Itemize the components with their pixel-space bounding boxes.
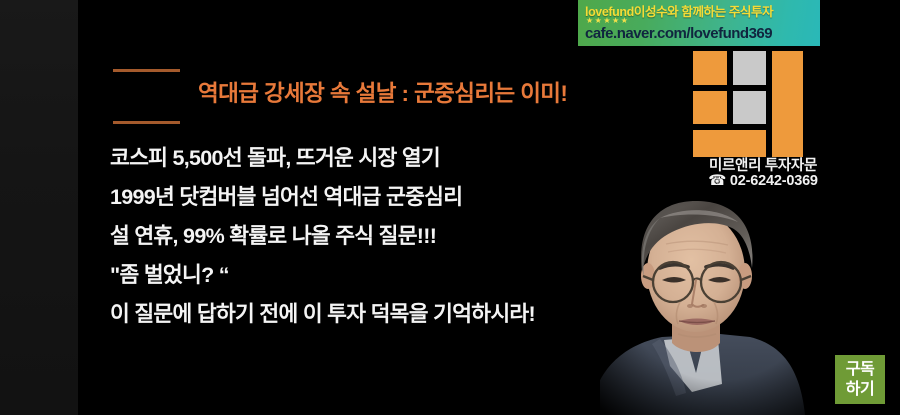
subscribe-button-line2: 하기 xyxy=(846,380,874,400)
logo-cell-bottom-bar xyxy=(693,130,766,157)
subscribe-button-line1: 구독 xyxy=(846,360,874,380)
logo-cell-mid-left xyxy=(693,91,727,124)
body-line: 1999년 닷컴버블 넘어선 역대급 군중심리 xyxy=(110,178,610,217)
company-name: 미르앤리 투자자문 xyxy=(693,154,833,175)
body-line: 설 연휴, 99% 확률로 나올 주식 질문!!! xyxy=(110,217,610,256)
presenter-portrait-icon xyxy=(600,188,840,415)
company-phone: ☎ 02-6242-0369 xyxy=(693,173,833,189)
logo-cell-mid-middle xyxy=(733,91,766,124)
headline-rule-top xyxy=(113,69,180,72)
promo-banner-url[interactable]: cafe.naver.com/lovefund369 xyxy=(585,25,772,42)
body-line: 이 질문에 답하기 전에 이 투자 덕목을 기억하시라! xyxy=(110,295,610,334)
headline-rule-bottom xyxy=(113,121,180,124)
promo-banner[interactable]: lovefund이성수와 함께하는 주식투자 ★★★★★ cafe.naver.… xyxy=(578,0,820,46)
presenter-webcam xyxy=(600,188,840,415)
body-copy: 코스피 5,500선 돌파, 뜨거운 시장 열기 1999년 닷컴버블 넘어선 … xyxy=(110,139,610,334)
background-left-strip xyxy=(0,0,78,415)
video-frame: lovefund이성수와 함께하는 주식투자 ★★★★★ cafe.naver.… xyxy=(0,0,900,415)
logo-cell-right-bar xyxy=(772,51,803,157)
star-rating-icon: ★★★★★ xyxy=(586,17,629,25)
body-line: "좀 벌었니? “ xyxy=(110,256,610,295)
logo-cell-top-middle xyxy=(733,51,766,85)
subscribe-button[interactable]: 구독 하기 xyxy=(835,355,885,404)
logo-cell-top-left xyxy=(693,51,727,85)
company-logo-icon xyxy=(693,51,803,149)
body-line: 코스피 5,500선 돌파, 뜨거운 시장 열기 xyxy=(110,139,610,178)
page-title: 역대급 강세장 속 설날 : 군중심리는 이미! xyxy=(198,76,567,108)
